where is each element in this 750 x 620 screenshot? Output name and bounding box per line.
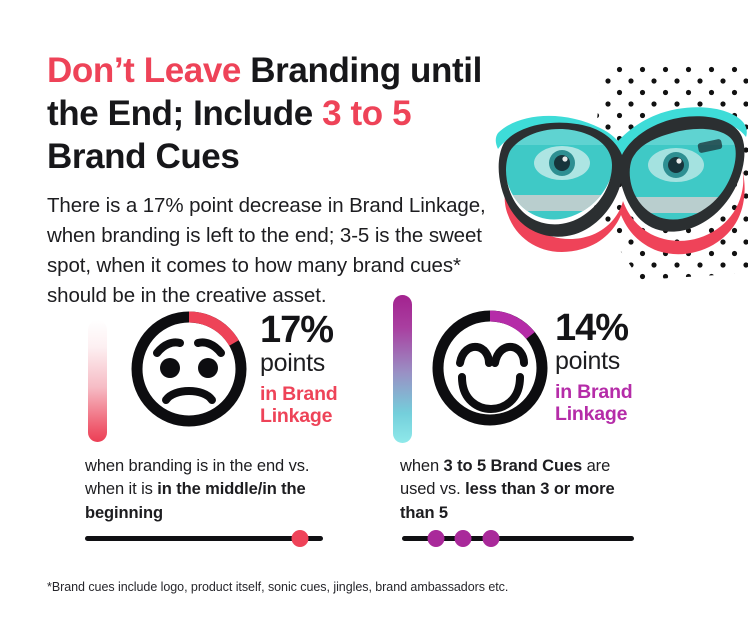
slider-track-left bbox=[85, 536, 323, 541]
frame-top-accent bbox=[496, 107, 747, 159]
caption-left: when branding is in the end vs. when it … bbox=[85, 455, 337, 525]
headline-accent-2: 3 to 5 bbox=[322, 94, 411, 133]
slider-right[interactable] bbox=[402, 527, 634, 549]
stat-subtitle-left-line2: Linkage bbox=[260, 405, 332, 427]
stat-subtitle-left-line1: in Brand bbox=[260, 383, 338, 405]
sunglasses-illustration bbox=[490, 55, 750, 290]
stat-subtitle-right: in Brand Linkage bbox=[555, 381, 705, 426]
polka-dot-pattern bbox=[585, 55, 750, 290]
stat-subtitle-right-line1: in Brand bbox=[555, 381, 633, 403]
stat-percent-right: 14% bbox=[555, 309, 705, 347]
stat-block-brand-linkage-end: 17% points in Brand Linkage when brandin… bbox=[80, 295, 410, 595]
footnote: *Brand cues include logo, product itself… bbox=[47, 580, 508, 594]
slider-dot[interactable] bbox=[292, 530, 309, 547]
body-paragraph: There is a 17% point decrease in Brand L… bbox=[47, 191, 499, 312]
caption-right: when 3 to 5 Brand Cues are used vs. less… bbox=[400, 455, 648, 525]
headline-plain-2: Brand Cues bbox=[47, 137, 239, 176]
gradient-indicator-bar-right bbox=[393, 295, 412, 443]
slider-dot[interactable] bbox=[483, 530, 500, 547]
caption-emphasis: 3 to 5 Brand Cues bbox=[444, 457, 583, 475]
infographic-canvas: Don’t Leave Branding until the End; Incl… bbox=[0, 0, 750, 620]
stat-text-right: 14% points in Brand Linkage bbox=[555, 309, 705, 426]
stat-points-label-right: points bbox=[555, 347, 705, 376]
slider-dot[interactable] bbox=[427, 530, 444, 547]
sad-face-icon bbox=[128, 308, 250, 430]
caption-text: when bbox=[400, 457, 444, 475]
stat-block-brand-cues-3-to-5: 14% points in Brand Linkage when 3 to 5 … bbox=[385, 295, 715, 595]
slider-left[interactable] bbox=[85, 527, 323, 549]
headline-accent-1: Don’t Leave bbox=[47, 51, 241, 90]
frame-outline bbox=[499, 116, 745, 236]
slider-dot[interactable] bbox=[455, 530, 472, 547]
page-title: Don’t Leave Branding until the End; Incl… bbox=[47, 50, 517, 178]
frame-bottom-accent bbox=[505, 169, 745, 254]
stat-subtitle-right-line2: Linkage bbox=[555, 403, 627, 425]
smiley-face-icon bbox=[429, 307, 551, 429]
gradient-indicator-bar-left bbox=[88, 320, 107, 442]
